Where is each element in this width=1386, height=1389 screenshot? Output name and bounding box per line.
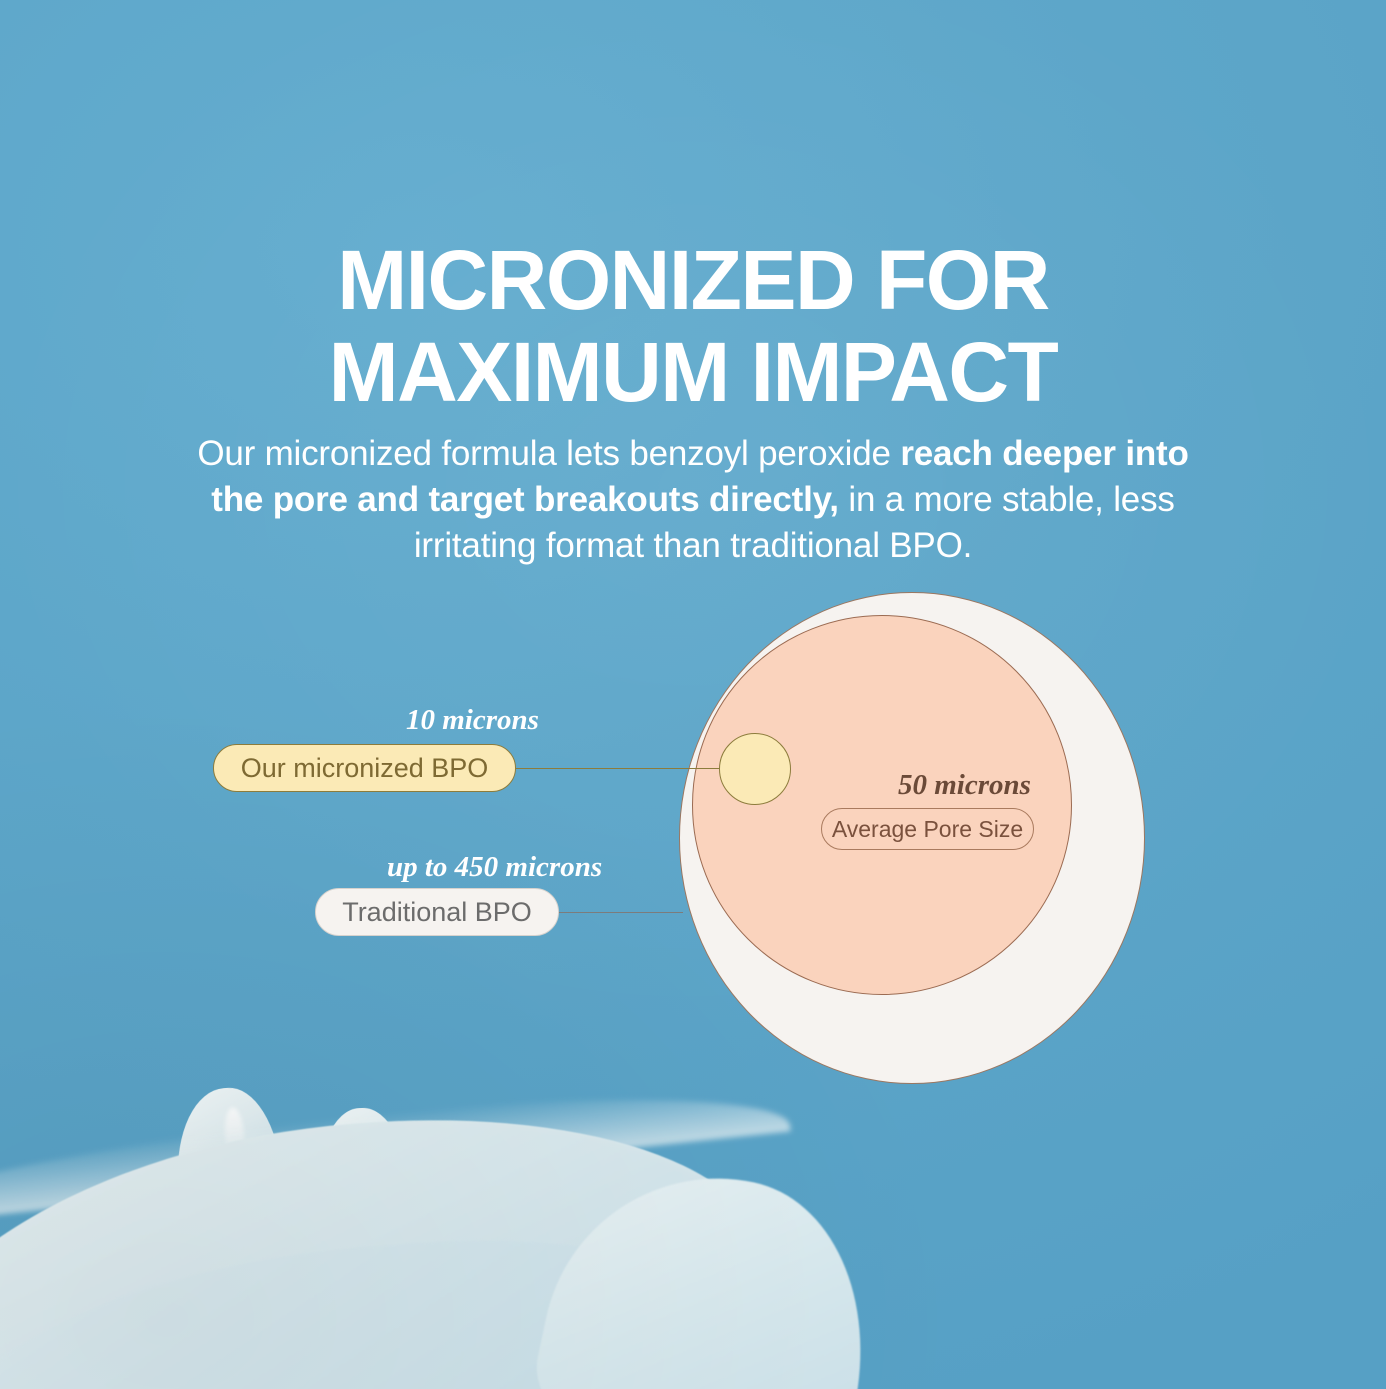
average-pore-size-label: 50 microns [898,769,1031,802]
average-pore-size-pill[interactable]: Average Pore Size [821,808,1034,850]
subtitle-part-1: Our micronized formula lets benzoyl pero… [197,434,900,473]
traditional-bpo-size-label: up to 450 microns [387,851,602,884]
micronized-bpo-pill[interactable]: Our micronized BPO [213,744,516,792]
average-pore-circle [692,615,1072,995]
traditional-bpo-connector-line [558,912,683,913]
headline-line-2: MAXIMUM IMPACT [0,326,1386,418]
micronized-bpo-connector-line [514,768,726,769]
headline-line-1: MICRONIZED FOR [0,234,1386,326]
page-subtitle: Our micronized formula lets benzoyl pero… [193,431,1193,569]
micronized-bpo-circle [719,733,791,805]
infographic-canvas: MICRONIZED FOR MAXIMUM IMPACT Our micron… [0,0,1386,1389]
traditional-bpo-pill[interactable]: Traditional BPO [315,888,559,936]
page-title: MICRONIZED FOR MAXIMUM IMPACT [0,234,1386,418]
micronized-bpo-size-label: 10 microns [406,704,539,737]
